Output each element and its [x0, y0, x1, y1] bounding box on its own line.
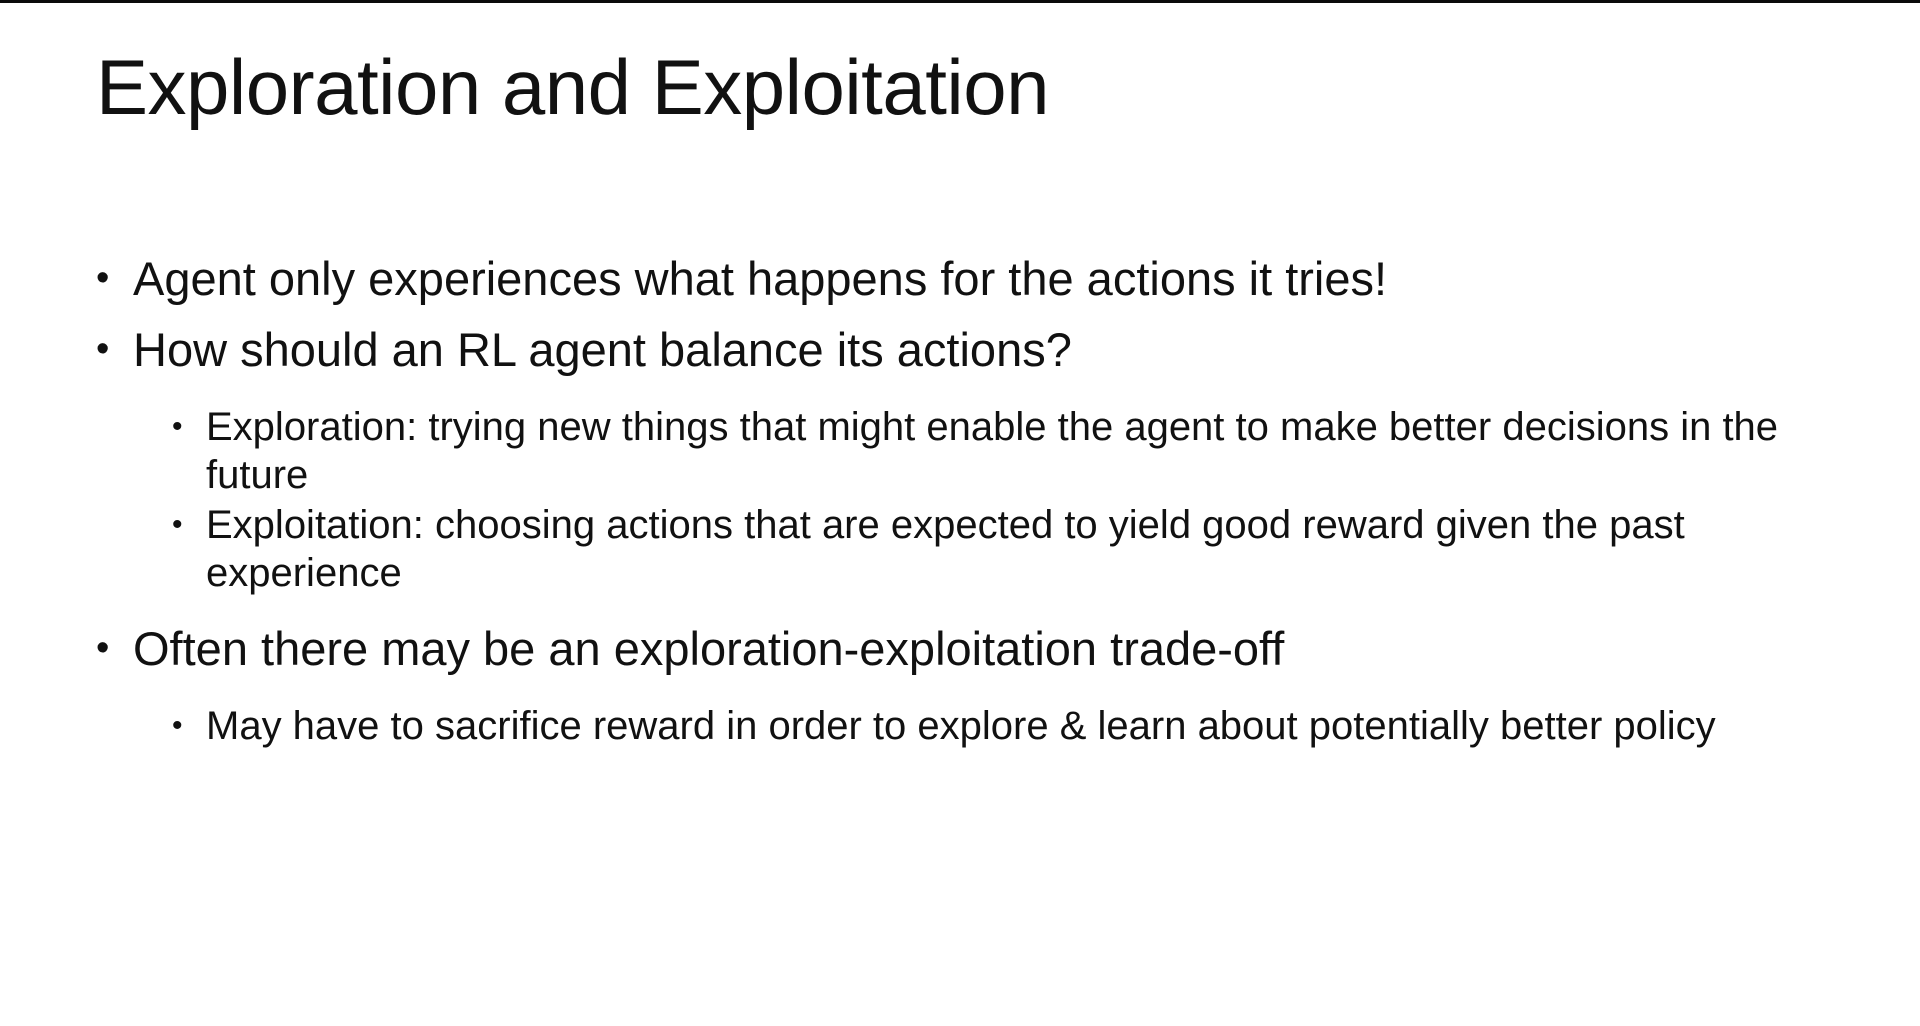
bullet-item-level2[interactable]: • Exploration: trying new things that mi…: [0, 403, 1920, 499]
list-spacer: [0, 692, 1920, 702]
bullet-item-level1[interactable]: • Agent only experiences what happens fo…: [0, 251, 1920, 308]
list-spacer: [0, 599, 1920, 621]
bullet-text: Exploitation: choosing actions that are …: [206, 501, 1816, 597]
bullet-text: May have to sacrifice reward in order to…: [206, 702, 1816, 750]
bullet-item-level2[interactable]: • Exploitation: choosing actions that ar…: [0, 501, 1920, 597]
slide-body-bullet-list: • Agent only experiences what happens fo…: [0, 251, 1920, 752]
bullet-text: Often there may be an exploration-exploi…: [133, 621, 1793, 678]
list-spacer: [0, 393, 1920, 403]
bullet-item-level2[interactable]: • May have to sacrifice reward in order …: [0, 702, 1920, 750]
bullet-point-icon: •: [96, 322, 133, 377]
bullet-point-icon: •: [96, 251, 133, 306]
bullet-text: Agent only experiences what happens for …: [133, 251, 1793, 308]
bullet-point-icon: •: [172, 403, 206, 451]
presentation-slide: Exploration and Exploitation • Agent onl…: [0, 0, 1920, 1026]
bullet-point-icon: •: [172, 501, 206, 549]
bullet-text: Exploration: trying new things that migh…: [206, 403, 1816, 499]
bullet-point-icon: •: [96, 621, 133, 676]
bullet-item-level1[interactable]: • How should an RL agent balance its act…: [0, 322, 1920, 379]
bullet-text: How should an RL agent balance its actio…: [133, 322, 1793, 379]
bullet-point-icon: •: [172, 702, 206, 750]
slide-title: Exploration and Exploitation: [96, 45, 1836, 129]
bullet-item-level1[interactable]: • Often there may be an exploration-expl…: [0, 621, 1920, 678]
